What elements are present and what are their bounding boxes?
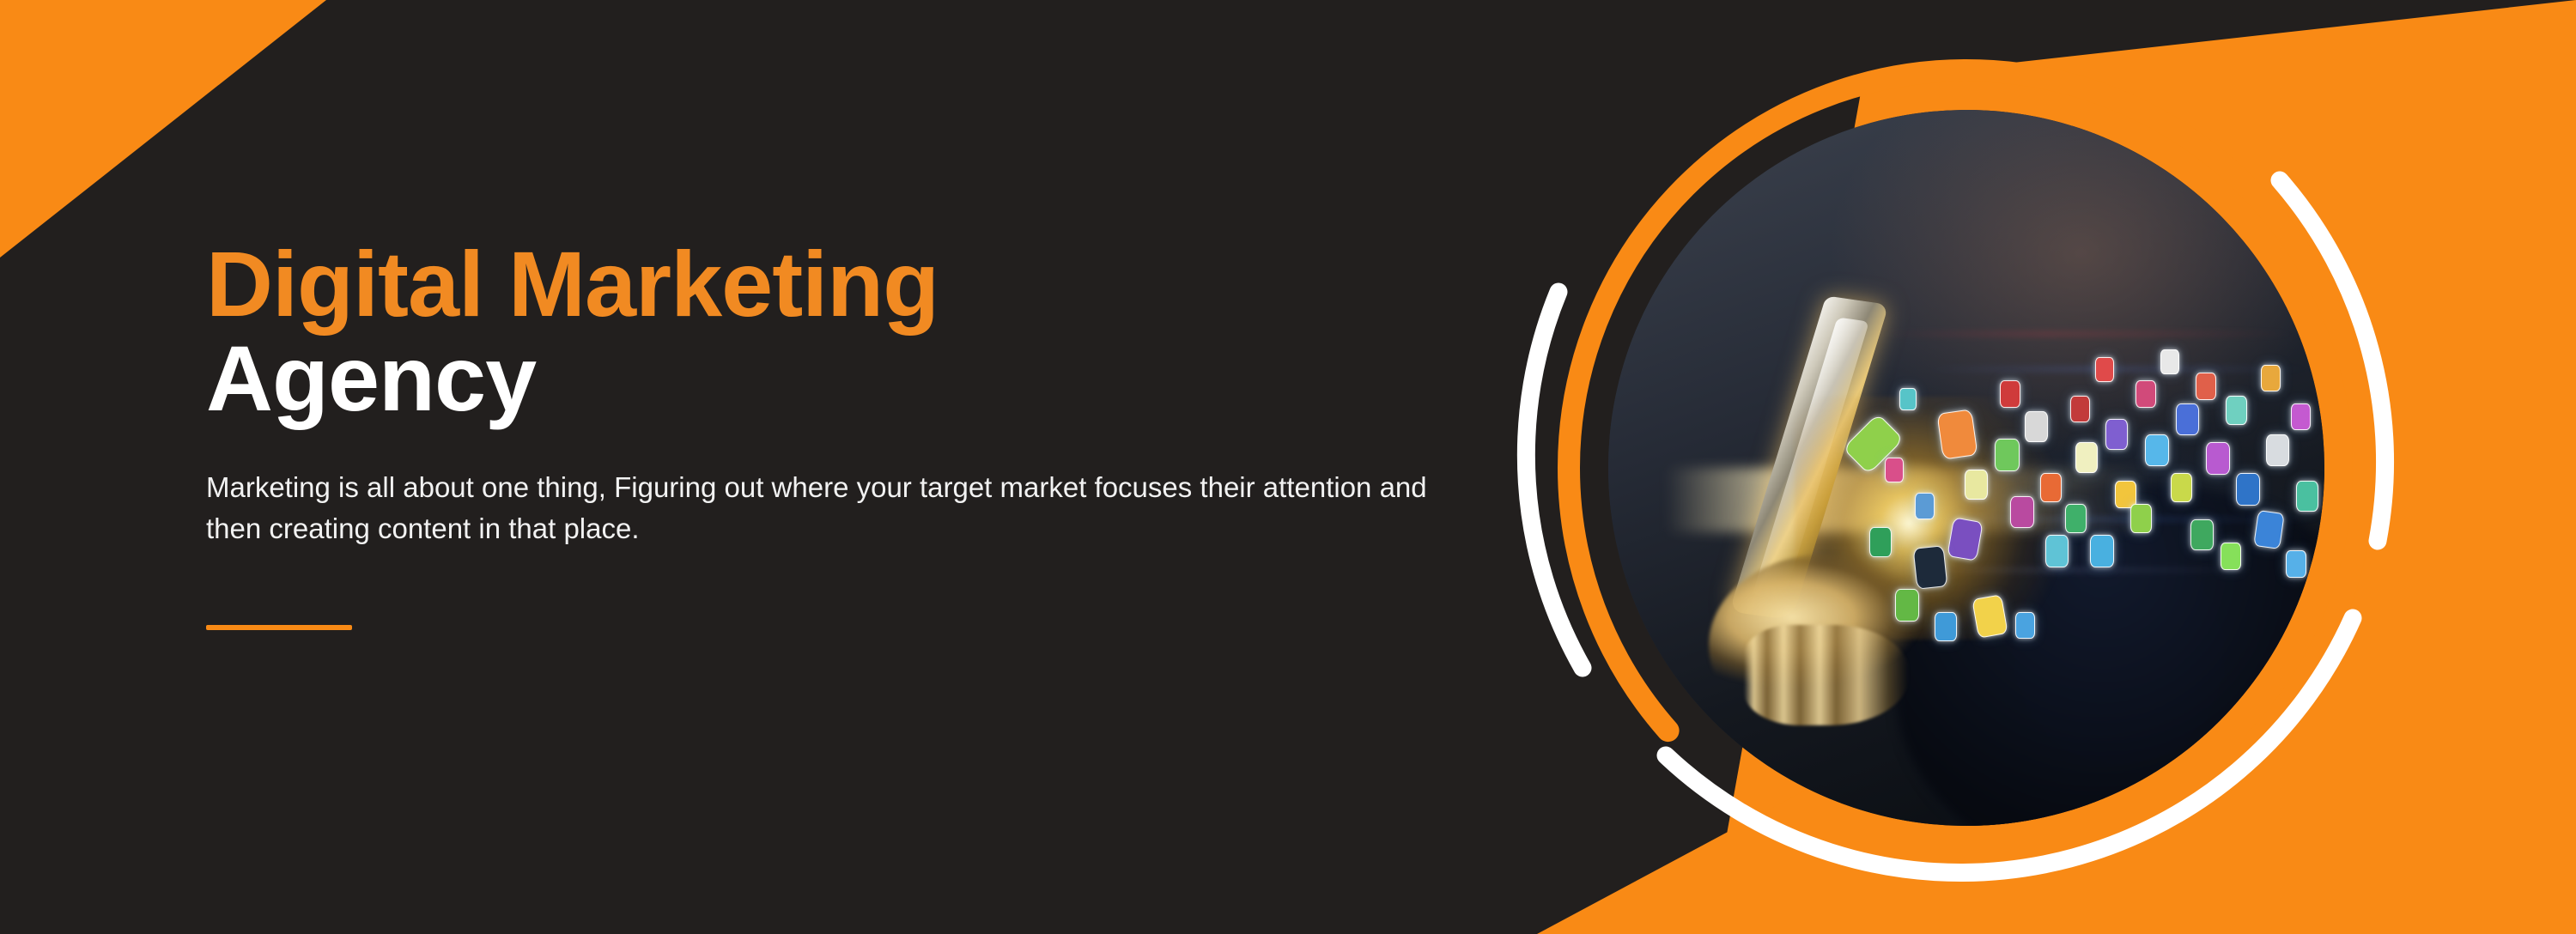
- hero-ring-arcs: [1507, 9, 2426, 927]
- accent-divider: [206, 625, 352, 630]
- hero-graphic: [1507, 9, 2426, 927]
- headline-line-primary: Digital Marketing: [206, 237, 1494, 331]
- top-left-orange-wedge: [0, 0, 326, 258]
- banner-description: Marketing is all about one thing, Figuri…: [206, 467, 1460, 549]
- marketing-banner: Digital Marketing Agency Marketing is al…: [0, 0, 2576, 934]
- orange-ring-arc: [1569, 70, 2364, 865]
- headline-line-secondary: Agency: [206, 331, 1494, 426]
- page-title: Digital Marketing Agency: [206, 237, 1494, 426]
- banner-content: Digital Marketing Agency Marketing is al…: [206, 237, 1494, 630]
